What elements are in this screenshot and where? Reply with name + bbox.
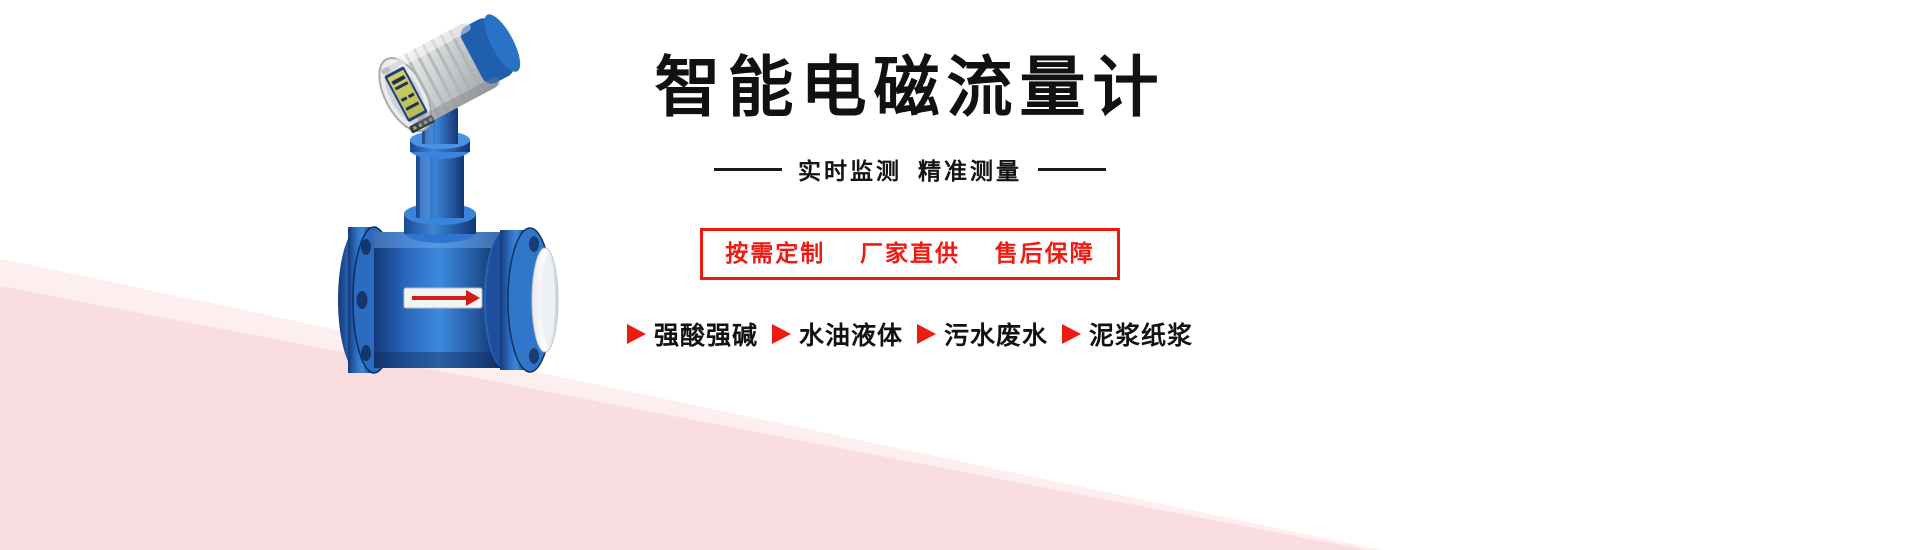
banner-copy-block: 智能电磁流量计 实时监测 精准测量 按需定制 厂家直供 售后保障 强酸强碱 — [600, 40, 1220, 400]
triangle-right-icon — [627, 324, 646, 344]
feature-label-1: 强酸强碱 — [654, 316, 758, 352]
feature-item-2: 水油液体 — [772, 316, 903, 352]
promo-item-3: 售后保障 — [995, 240, 1095, 266]
feature-list: 强酸强碱 水油液体 污水废水 泥浆纸浆 — [600, 316, 1220, 352]
divider-right — [1038, 168, 1106, 171]
subtitle-row: 实时监测 精准测量 — [600, 152, 1220, 186]
feature-label-4: 泥浆纸浆 — [1089, 316, 1193, 352]
page-title: 智能电磁流量计 — [600, 54, 1220, 120]
triangle-right-icon — [1062, 324, 1081, 344]
feature-item-4: 泥浆纸浆 — [1062, 316, 1193, 352]
subtitle-right: 精准测量 — [918, 152, 1022, 186]
right-flange — [486, 228, 558, 372]
triangle-right-icon — [917, 324, 936, 344]
flow-direction-arrow-icon — [404, 288, 482, 308]
feature-item-3: 污水废水 — [917, 316, 1048, 352]
feature-label-3: 污水废水 — [944, 316, 1048, 352]
product-banner: 智能电磁流量计 实时监测 精准测量 按需定制 厂家直供 售后保障 强酸强碱 — [0, 0, 1920, 550]
flowmeter-svg — [300, 0, 630, 420]
feature-item-1: 强酸强碱 — [627, 316, 758, 352]
divider-left — [714, 168, 782, 171]
promo-wrapper: 按需定制 厂家直供 售后保障 — [600, 228, 1220, 280]
subtitle-left: 实时监测 — [798, 152, 902, 186]
promo-item-2: 厂家直供 — [860, 240, 960, 266]
promo-item-1: 按需定制 — [725, 240, 825, 266]
triangle-right-icon — [772, 324, 791, 344]
electromagnetic-flowmeter-illustration — [300, 0, 630, 420]
promo-badge: 按需定制 厂家直供 售后保障 — [700, 228, 1120, 280]
feature-label-2: 水油液体 — [799, 316, 903, 352]
